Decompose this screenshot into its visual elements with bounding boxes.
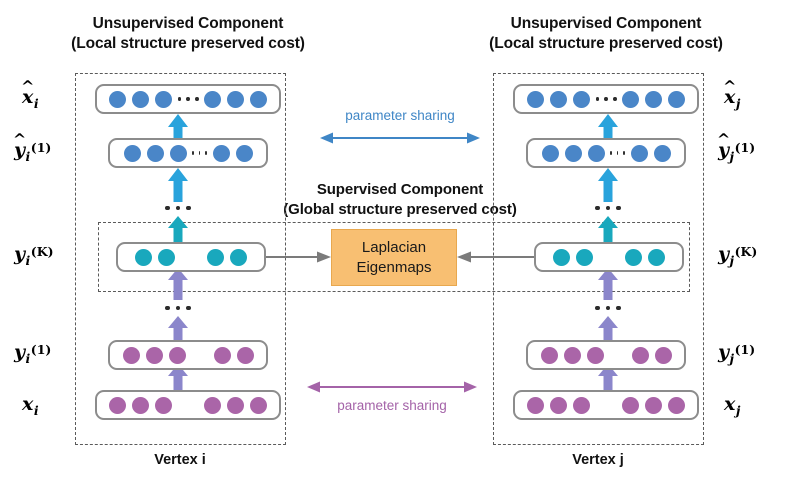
node [565, 145, 582, 162]
node [109, 397, 126, 414]
arrow-left-yk-to-laplacian [266, 250, 332, 264]
layer-left-x[interactable] [95, 390, 281, 420]
node [132, 91, 149, 108]
node [227, 91, 244, 108]
node [124, 145, 141, 162]
laplacian-eigenmaps-box[interactable]: Laplacian Eigenmaps [331, 229, 457, 286]
node [645, 397, 662, 414]
node [158, 249, 175, 266]
laplacian-label-line2: Eigenmaps [356, 258, 431, 278]
label-left-xhat: ^ x i [22, 86, 39, 108]
heading-unsupervised-left-line1: Unsupervised Component [78, 14, 298, 34]
layer-left-y1[interactable] [108, 340, 268, 370]
layer-right-yk[interactable] [534, 242, 684, 272]
layer-ellipsis [608, 151, 628, 155]
node [204, 397, 221, 414]
node [236, 145, 253, 162]
node [155, 397, 172, 414]
node [527, 397, 544, 414]
node [631, 145, 648, 162]
node [654, 145, 671, 162]
vertex-j-caption: Vertex j [513, 452, 683, 468]
layer-left-yhat1-nodes [121, 145, 256, 162]
parameter-sharing-bottom-label: parameter sharing [307, 398, 477, 413]
arrow-parameter-sharing-top [320, 131, 480, 145]
node [573, 91, 590, 108]
label-right-x-base: x [724, 393, 735, 415]
node [135, 249, 152, 266]
node [550, 397, 567, 414]
node [214, 347, 231, 364]
heading-unsupervised-left-line2: (Local structure preserved cost) [68, 34, 308, 54]
laplacian-label-line1: Laplacian [362, 238, 426, 258]
ellipsis-left-upper [160, 203, 196, 213]
arrow-up-left-into-yk [166, 268, 190, 300]
node [155, 91, 172, 108]
node [564, 347, 581, 364]
arrow-up-left-into-yhat1 [166, 168, 190, 202]
node [132, 397, 149, 414]
node [146, 347, 163, 364]
node [622, 91, 639, 108]
ellipsis-right-lower [590, 303, 626, 313]
label-right-yhat1-base: ^ y [718, 139, 729, 161]
layer-right-x-nodes [524, 397, 688, 414]
node [527, 91, 544, 108]
parameter-sharing-top-label: parameter sharing [320, 108, 480, 123]
label-right-yhat1: ^ y j (1) [718, 139, 755, 161]
node [550, 91, 567, 108]
layer-ellipsis [175, 97, 201, 101]
heading-unsupervised-right-line1: Unsupervised Component [496, 14, 716, 34]
node [250, 91, 267, 108]
ellipsis-right-upper [590, 203, 626, 213]
hat-accent-icon: ^ [717, 130, 730, 149]
arrow-right-yk-to-laplacian [456, 250, 536, 264]
heading-supervised-line2: (Global structure preserved cost) [272, 200, 528, 220]
label-left-y1: y i (1) [14, 341, 51, 363]
label-right-xhat-base: ^ x [724, 86, 735, 108]
node [625, 249, 642, 266]
label-right-xhat: ^ x j [724, 86, 740, 108]
layer-left-xhat-nodes [106, 91, 270, 108]
layer-right-x[interactable] [513, 390, 699, 420]
node [622, 397, 639, 414]
label-left-yhat1-base: ^ y [14, 139, 25, 161]
node [668, 397, 685, 414]
hat-accent-icon: ^ [21, 77, 34, 96]
label-left-yk-base: y [14, 243, 25, 265]
layer-right-xhat[interactable] [513, 84, 699, 114]
node [227, 397, 244, 414]
label-left-yk: y i (K) [14, 243, 54, 265]
node [587, 347, 604, 364]
label-right-yk: y j (K) [718, 243, 757, 265]
vertex-i-caption: Vertex i [95, 452, 265, 468]
heading-unsupervised-right-line2: (Local structure preserved cost) [486, 34, 726, 54]
node [230, 249, 247, 266]
node [576, 249, 593, 266]
layer-right-yhat1[interactable] [526, 138, 686, 168]
node [147, 145, 164, 162]
node [541, 347, 558, 364]
layer-left-x-nodes [106, 397, 270, 414]
node [204, 91, 221, 108]
node [645, 91, 662, 108]
node [553, 249, 570, 266]
layer-left-yk[interactable] [116, 242, 266, 272]
layer-left-yk-nodes [132, 249, 250, 266]
node [632, 347, 649, 364]
label-left-x-base: x [22, 393, 33, 415]
heading-supervised-line1: Supervised Component [288, 180, 512, 200]
label-left-xhat-base: ^ x [22, 86, 33, 108]
arrow-parameter-sharing-bottom [307, 380, 477, 394]
layer-ellipsis [593, 97, 619, 101]
hat-accent-icon: ^ [723, 77, 736, 96]
node [250, 397, 267, 414]
hat-accent-icon: ^ [13, 130, 26, 149]
diagram-canvas: Unsupervised Component (Local structure … [0, 0, 800, 489]
layer-right-xhat-nodes [524, 91, 688, 108]
node [109, 91, 126, 108]
node [213, 145, 230, 162]
layer-left-yhat1[interactable] [108, 138, 268, 168]
node [237, 347, 254, 364]
label-left-yhat1: ^ y i (1) [14, 139, 51, 161]
node [169, 347, 186, 364]
layer-right-yk-nodes [550, 249, 668, 266]
node [588, 145, 605, 162]
arrow-up-right-into-yk [596, 268, 620, 300]
layer-left-xhat[interactable] [95, 84, 281, 114]
node [573, 397, 590, 414]
arrow-up-right-into-yhat1 [596, 168, 620, 202]
node [668, 91, 685, 108]
layer-right-y1-nodes [538, 347, 675, 364]
label-right-y1-base: y [718, 341, 729, 363]
label-right-y1: y j (1) [718, 341, 755, 363]
node [648, 249, 665, 266]
node [655, 347, 672, 364]
node [123, 347, 140, 364]
layer-right-y1[interactable] [526, 340, 686, 370]
label-left-x: x i [22, 393, 39, 415]
layer-ellipsis [190, 151, 210, 155]
label-left-y1-base: y [14, 341, 25, 363]
layer-right-yhat1-nodes [539, 145, 674, 162]
label-right-x: x j [724, 393, 740, 415]
ellipsis-left-lower [160, 303, 196, 313]
node [170, 145, 187, 162]
layer-left-y1-nodes [120, 347, 257, 364]
node [207, 249, 224, 266]
node [542, 145, 559, 162]
label-right-yk-base: y [718, 243, 729, 265]
